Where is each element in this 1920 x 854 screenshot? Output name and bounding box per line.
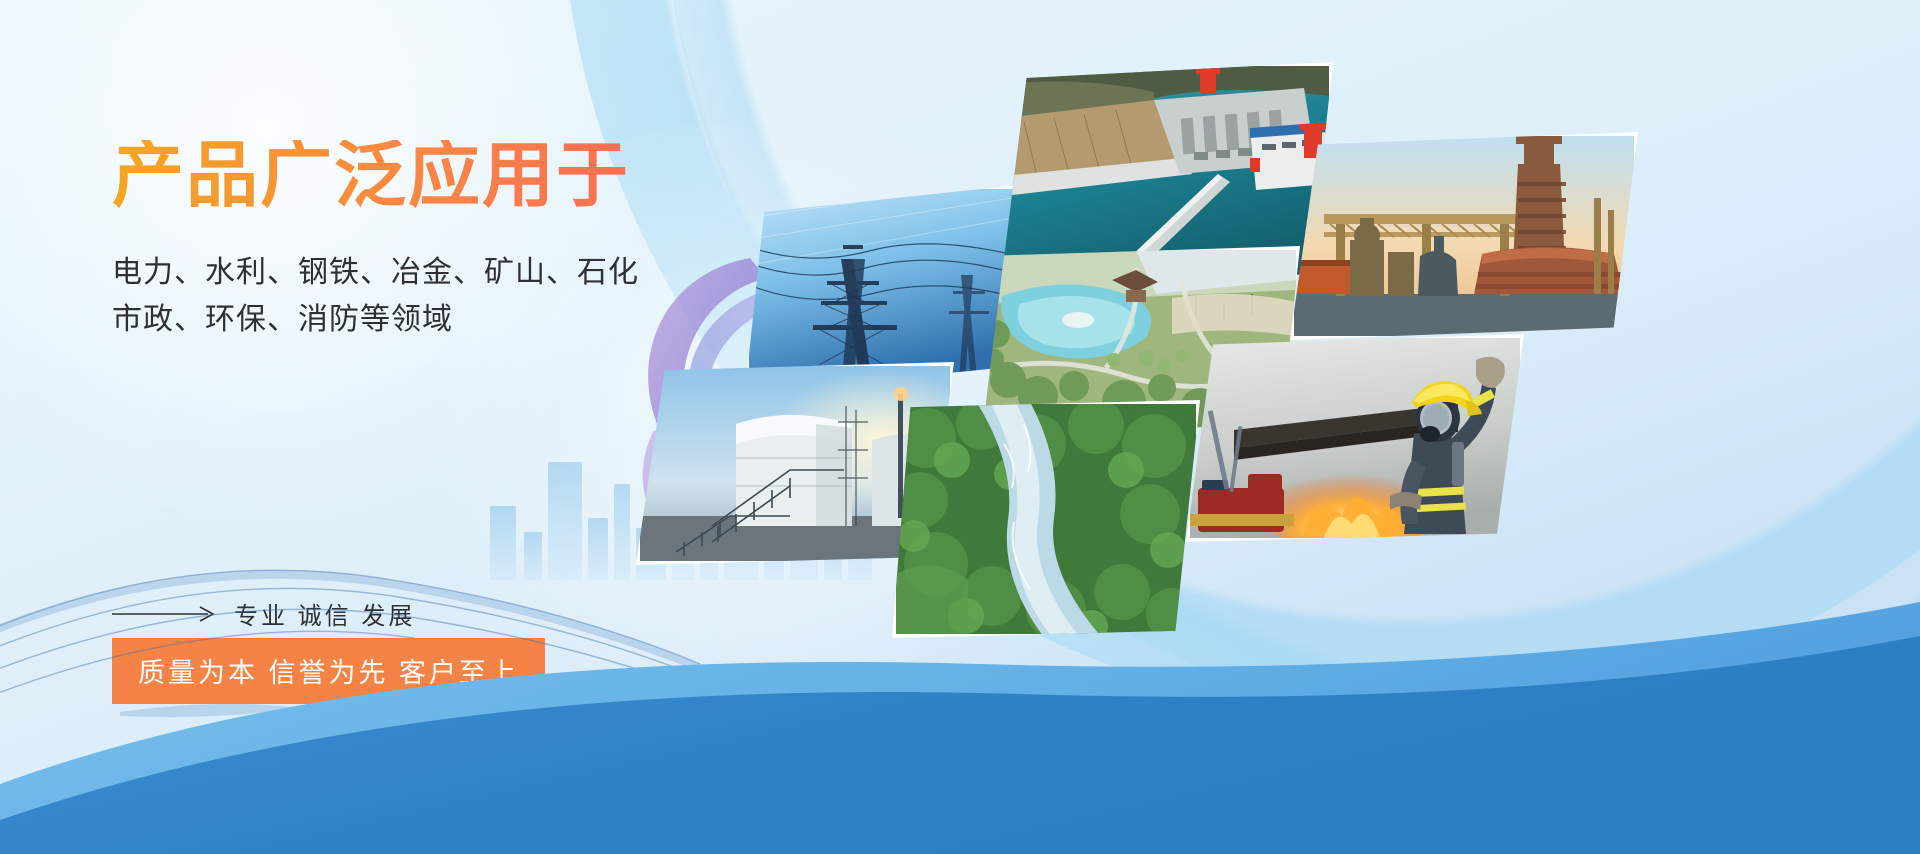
- subtitle-line-1: 电力、水利、钢铁、冶金、矿山、石化: [112, 250, 752, 297]
- firefighter-training-photo: [1186, 334, 1524, 542]
- power-transmission-tower-photo: [745, 185, 1018, 393]
- bottom-wave-decoration: [0, 524, 1920, 854]
- headline-block: 产品广泛应用于 电力、水利、钢铁、冶金、矿山、石化 市政、环保、消防等领域: [112, 140, 752, 343]
- page-title: 产品广泛应用于: [112, 140, 752, 212]
- subtitle-line-2: 市政、环保、消防等领域: [112, 297, 752, 344]
- promotional-banner: 产品广泛应用于 电力、水利、钢铁、冶金、矿山、石化 市政、环保、消防等领域 专业…: [0, 0, 1920, 854]
- steel-blast-furnace-photo: [1290, 132, 1638, 340]
